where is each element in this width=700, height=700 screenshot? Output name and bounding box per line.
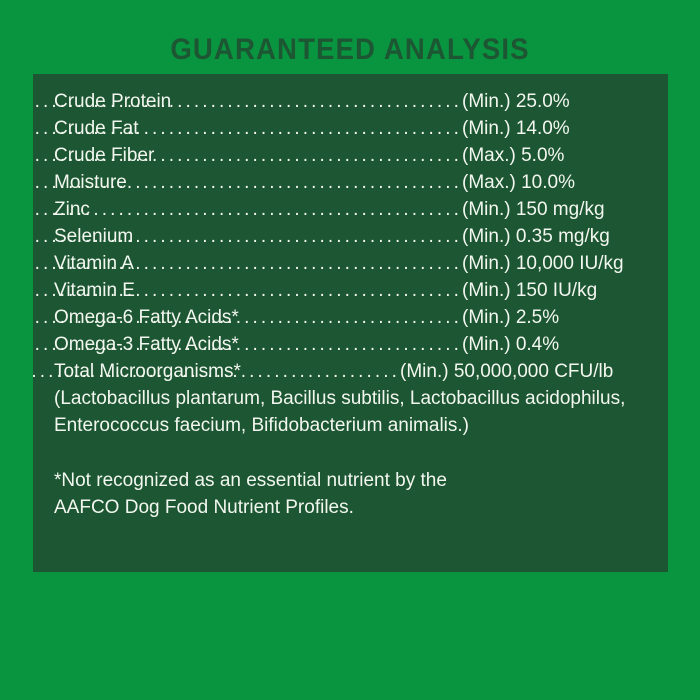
- nutrient-value: (Max.) 5.0%: [462, 142, 564, 169]
- dot-leader: ........................................…: [33, 331, 462, 358]
- nutrient-value: (Min.) 50,000,000 CFU/lb: [400, 358, 613, 385]
- nutrient-row: Total Microorganisms* ..................…: [33, 358, 668, 385]
- nutrient-row: Omega-6 Fatty Acids*....................…: [33, 304, 668, 331]
- organism-list: (Lactobacillus plantarum, Bacillus subti…: [33, 385, 668, 439]
- nutrient-value: (Min.) 2.5%: [462, 304, 559, 331]
- footnote: *Not recognized as an essential nutrient…: [33, 467, 668, 521]
- page-title: GUARANTEED ANALYSIS: [28, 33, 672, 67]
- dot-leader: ........................................…: [33, 304, 462, 331]
- nutrient-row: Crude Fiber ............................…: [33, 142, 668, 169]
- dot-leader: ........................................…: [33, 250, 462, 277]
- dot-leader: ........................................…: [33, 115, 462, 142]
- guaranteed-analysis-panel: GUARANTEED ANALYSIS Crude Protein.......…: [0, 0, 700, 700]
- nutrient-row: Selenium................................…: [33, 223, 668, 250]
- nutrient-row: Moisture................................…: [33, 169, 668, 196]
- nutrient-value: (Max.) 10.0%: [462, 169, 575, 196]
- dot-leader: ........................................…: [33, 169, 462, 196]
- dot-leader: ........................................…: [33, 142, 462, 169]
- dot-leader: ........................................…: [33, 277, 462, 304]
- nutrient-row: Zinc....................................…: [33, 196, 668, 223]
- dot-leader: ........................................…: [33, 88, 462, 115]
- nutrient-value: (Min.) 14.0%: [462, 115, 570, 142]
- footnote-line-2: AAFCO Dog Food Nutrient Profiles.: [54, 494, 660, 521]
- nutrient-row: Vitamin E ..............................…: [33, 277, 668, 304]
- dot-leader: ........................................…: [33, 196, 462, 223]
- nutrient-value: (Min.) 150 mg/kg: [462, 196, 605, 223]
- nutrient-row: Omega-3 Fatty Acids*....................…: [33, 331, 668, 358]
- nutrient-value: (Min.) 25.0%: [462, 88, 570, 115]
- dot-leader: ........................................…: [33, 358, 400, 385]
- nutrient-value: (Min.) 150 IU/kg: [462, 277, 597, 304]
- nutrient-row: Crude Protein...........................…: [33, 88, 668, 115]
- nutrient-value: (Min.) 10,000 IU/kg: [462, 250, 624, 277]
- nutrient-value: (Min.) 0.35 mg/kg: [462, 223, 610, 250]
- nutrient-row: Vitamin A ..............................…: [33, 250, 668, 277]
- nutrient-row: Crude Fat ..............................…: [33, 115, 668, 142]
- footnote-line-1: *Not recognized as an essential nutrient…: [54, 467, 660, 494]
- nutrient-row-list: Crude Protein...........................…: [33, 88, 668, 385]
- nutrient-value: (Min.) 0.4%: [462, 331, 559, 358]
- dot-leader: ........................................…: [33, 223, 462, 250]
- analysis-panel: Crude Protein...........................…: [33, 74, 668, 572]
